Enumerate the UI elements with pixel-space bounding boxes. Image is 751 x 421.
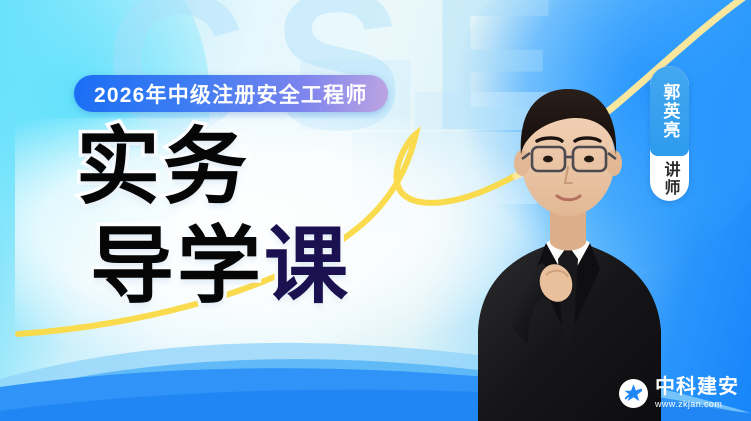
course-poster: CSE: [0, 0, 751, 421]
brand-text: 中科建安 www.zkjan.com: [655, 377, 739, 409]
brand-name: 中科建安: [655, 377, 739, 397]
course-badge[interactable]: 2026年中级注册安全工程师: [74, 75, 388, 112]
headline-line-2-main: 导学: [90, 219, 264, 313]
headline-line-1: 实务: [76, 127, 351, 208]
instructor-photo: [418, 31, 718, 421]
headline-block: 实务 导学课: [76, 127, 351, 306]
headline-line-2: 导学课: [90, 226, 351, 307]
brand-url: www.zkjan.com: [655, 400, 739, 409]
headline-line-2-accent: 课: [264, 219, 351, 313]
course-badge-label: 2026年中级注册安全工程师: [94, 79, 368, 109]
zkjan-star-logo-icon: [619, 379, 648, 408]
brand-logo[interactable]: 中科建安 www.zkjan.com: [619, 377, 739, 409]
